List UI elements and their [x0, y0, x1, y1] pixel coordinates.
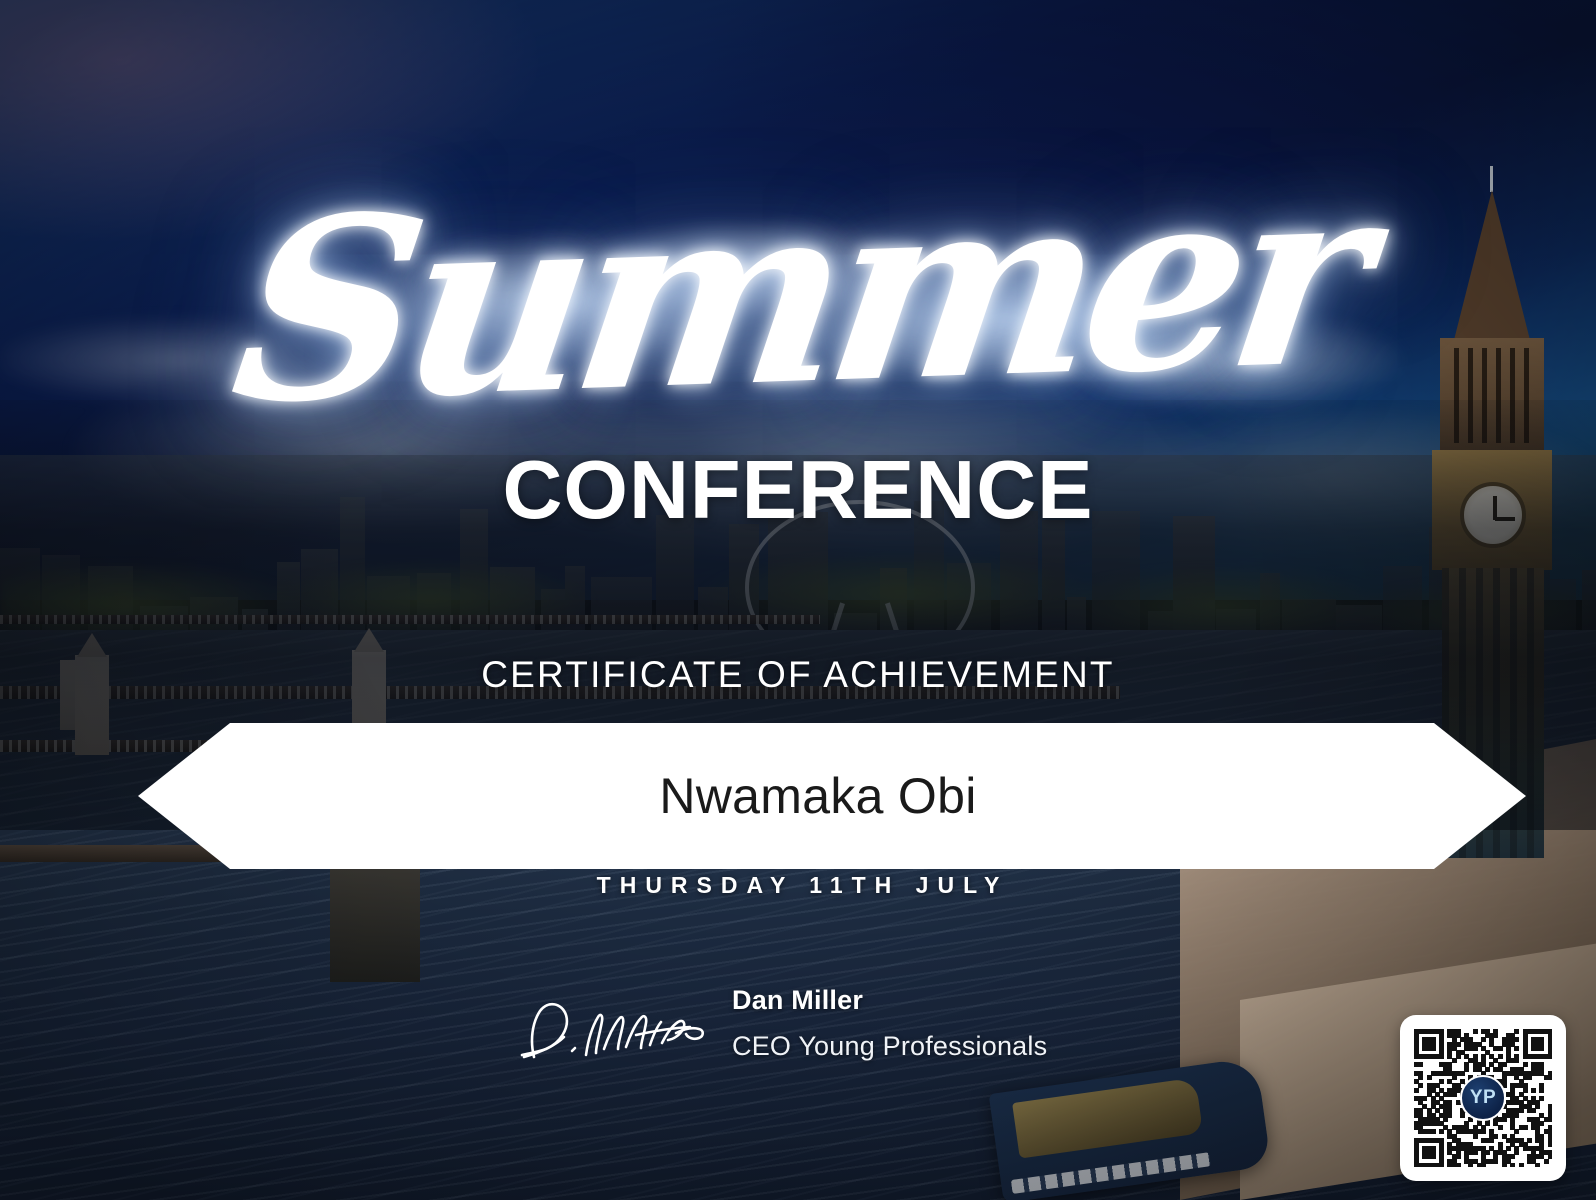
qr-code-icon[interactable]: YP	[1414, 1029, 1552, 1167]
certificate-card: Summer CONFERENCE CERTIFICATE OF ACHIEVE…	[0, 0, 1596, 1200]
brand-script-summer: Summer	[0, 140, 1596, 446]
certificate-content: Summer CONFERENCE CERTIFICATE OF ACHIEVE…	[0, 0, 1596, 1200]
certificate-subtitle: CERTIFICATE OF ACHIEVEMENT	[0, 654, 1596, 696]
qr-center-logo-yp: YP	[1460, 1075, 1506, 1121]
qr-code-card[interactable]: YP	[1400, 1015, 1566, 1181]
handwritten-signature-icon	[508, 991, 718, 1063]
brand-title-conference: CONFERENCE	[0, 448, 1596, 531]
signatory-role: CEO Young Professionals	[732, 1031, 1047, 1062]
recipient-name-banner: Nwamaka Obi	[138, 723, 1526, 869]
recipient-name: Nwamaka Obi	[659, 767, 976, 825]
event-date: THURSDAY 11TH JULY	[0, 872, 1596, 899]
signature-block: Dan Miller CEO Young Professionals	[508, 985, 1128, 1075]
signatory-name: Dan Miller	[732, 985, 863, 1016]
